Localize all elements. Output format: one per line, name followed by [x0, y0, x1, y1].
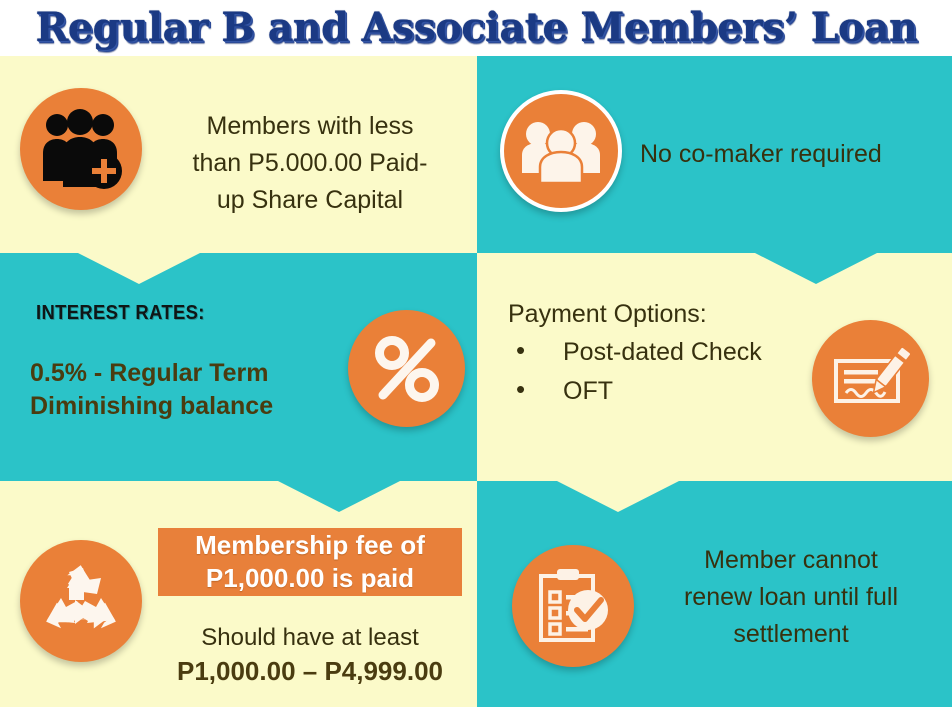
list-item: Post-dated Check	[508, 333, 848, 372]
group-people-plus-icon	[20, 88, 142, 210]
chevron-notch-middle-left	[278, 481, 400, 512]
clipboard-check-icon	[512, 545, 634, 667]
group-people-icon	[500, 90, 622, 212]
banner-line: P1,000.00 is paid	[206, 562, 414, 595]
text-line: Diminishing balance	[30, 390, 360, 423]
text-line: settlement	[648, 616, 934, 653]
text-line: up Share Capital	[150, 182, 470, 219]
chevron-notch-middle-right	[557, 481, 679, 512]
payment-options-block: Payment Options: Post-dated Check OFT	[508, 296, 848, 411]
interest-rates-value: 0.5% - Regular Term Diminishing balance	[30, 357, 360, 423]
infographic-slide: Regular B and Associate Members’ Loan Me…	[0, 0, 952, 707]
text-line: renew loan until full	[648, 579, 934, 616]
interest-rates-heading: INTEREST RATES:	[36, 302, 205, 325]
chevron-notch-top-right	[755, 253, 877, 284]
membership-fee-banner: Membership fee of P1,000.00 is paid	[158, 528, 462, 596]
banner-line: Membership fee of	[195, 529, 425, 562]
payment-options-heading: Payment Options:	[508, 296, 848, 333]
membership-fee-amount: P1,000.00 – P4,999.00	[140, 654, 480, 688]
page-title: Regular B and Associate Members’ Loan	[35, 6, 917, 50]
renew-loan-text: Member cannot renew loan until full sett…	[648, 542, 934, 653]
text-line: than P5.000.00 Paid-	[150, 145, 470, 182]
payment-options-list: Post-dated Check OFT	[508, 333, 848, 411]
list-item: OFT	[508, 372, 848, 411]
title-band: Regular B and Associate Members’ Loan	[0, 0, 952, 56]
recycle-icon	[20, 540, 142, 662]
members-share-capital-text: Members with less than P5.000.00 Paid- u…	[150, 108, 470, 219]
text-line: Member cannot	[648, 542, 934, 579]
text-line: No co-maker required	[640, 136, 940, 173]
cheque-pencil-icon	[812, 320, 929, 437]
percent-icon	[348, 310, 465, 427]
membership-fee-subtext: Should have at least	[158, 622, 462, 654]
chevron-notch-top-left	[78, 253, 200, 284]
text-line: Members with less	[150, 108, 470, 145]
no-co-maker-text: No co-maker required	[640, 136, 940, 173]
text-line: 0.5% - Regular Term	[30, 357, 360, 390]
